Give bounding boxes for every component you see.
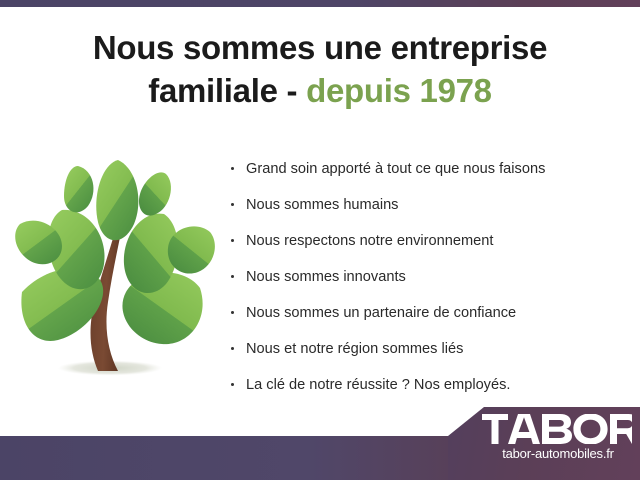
- page-title: Nous sommes une entreprise familiale - d…: [0, 26, 640, 112]
- list-item-label: Nous sommes un partenaire de confiance: [246, 305, 516, 321]
- bullet-dot-icon: [231, 383, 234, 386]
- tabor-logo-wordmark: [482, 414, 632, 444]
- list-item: Nous sommes un partenaire de confiance: [228, 295, 628, 331]
- headline-accent-year: depuis 1978: [306, 72, 492, 109]
- list-item-label: Nous sommes innovants: [246, 269, 406, 285]
- headline-line-1: Nous sommes une entreprise: [0, 26, 640, 69]
- list-item: Nous sommes innovants: [228, 259, 628, 295]
- top-accent-bar: [0, 0, 640, 7]
- list-item-label: Nous sommes humains: [246, 197, 398, 213]
- list-item: Nous respectons notre environnement: [228, 223, 628, 259]
- tree-illustration: [14, 152, 224, 384]
- headline-dash: -: [287, 72, 298, 109]
- leaf-top-left: [64, 166, 93, 212]
- list-item-label: Nous respectons notre environnement: [246, 233, 493, 249]
- leaf-top-right: [139, 172, 171, 215]
- headline-line-2: familiale - depuis 1978: [0, 69, 640, 112]
- list-item: Grand soin apporté à tout ce que nous fa…: [228, 151, 628, 187]
- bullet-dot-icon: [231, 347, 234, 350]
- list-item-label: La clé de notre réussite ? Nos employés.: [246, 377, 510, 393]
- slide-canvas: Nous sommes une entreprise familiale - d…: [0, 0, 640, 480]
- logo-tagline: tabor-automobiles.fr: [482, 446, 634, 461]
- list-item: Nous et notre région sommes liés: [228, 331, 628, 367]
- headline-text-1: Nous sommes une entreprise: [93, 29, 547, 66]
- list-item-label: Nous et notre région sommes liés: [246, 341, 463, 357]
- bullet-dot-icon: [231, 239, 234, 242]
- bullet-dot-icon: [231, 275, 234, 278]
- headline-text-2: familiale: [148, 72, 277, 109]
- bullet-dot-icon: [231, 167, 234, 170]
- bullet-dot-icon: [231, 311, 234, 314]
- list-item-label: Grand soin apporté à tout ce que nous fa…: [246, 161, 545, 177]
- bullet-dot-icon: [231, 203, 234, 206]
- benefits-list: Grand soin apporté à tout ce que nous fa…: [228, 151, 628, 403]
- list-item: Nous sommes humains: [228, 187, 628, 223]
- leaf-top-center: [96, 160, 138, 240]
- list-item: La clé de notre réussite ? Nos employés.: [228, 367, 628, 403]
